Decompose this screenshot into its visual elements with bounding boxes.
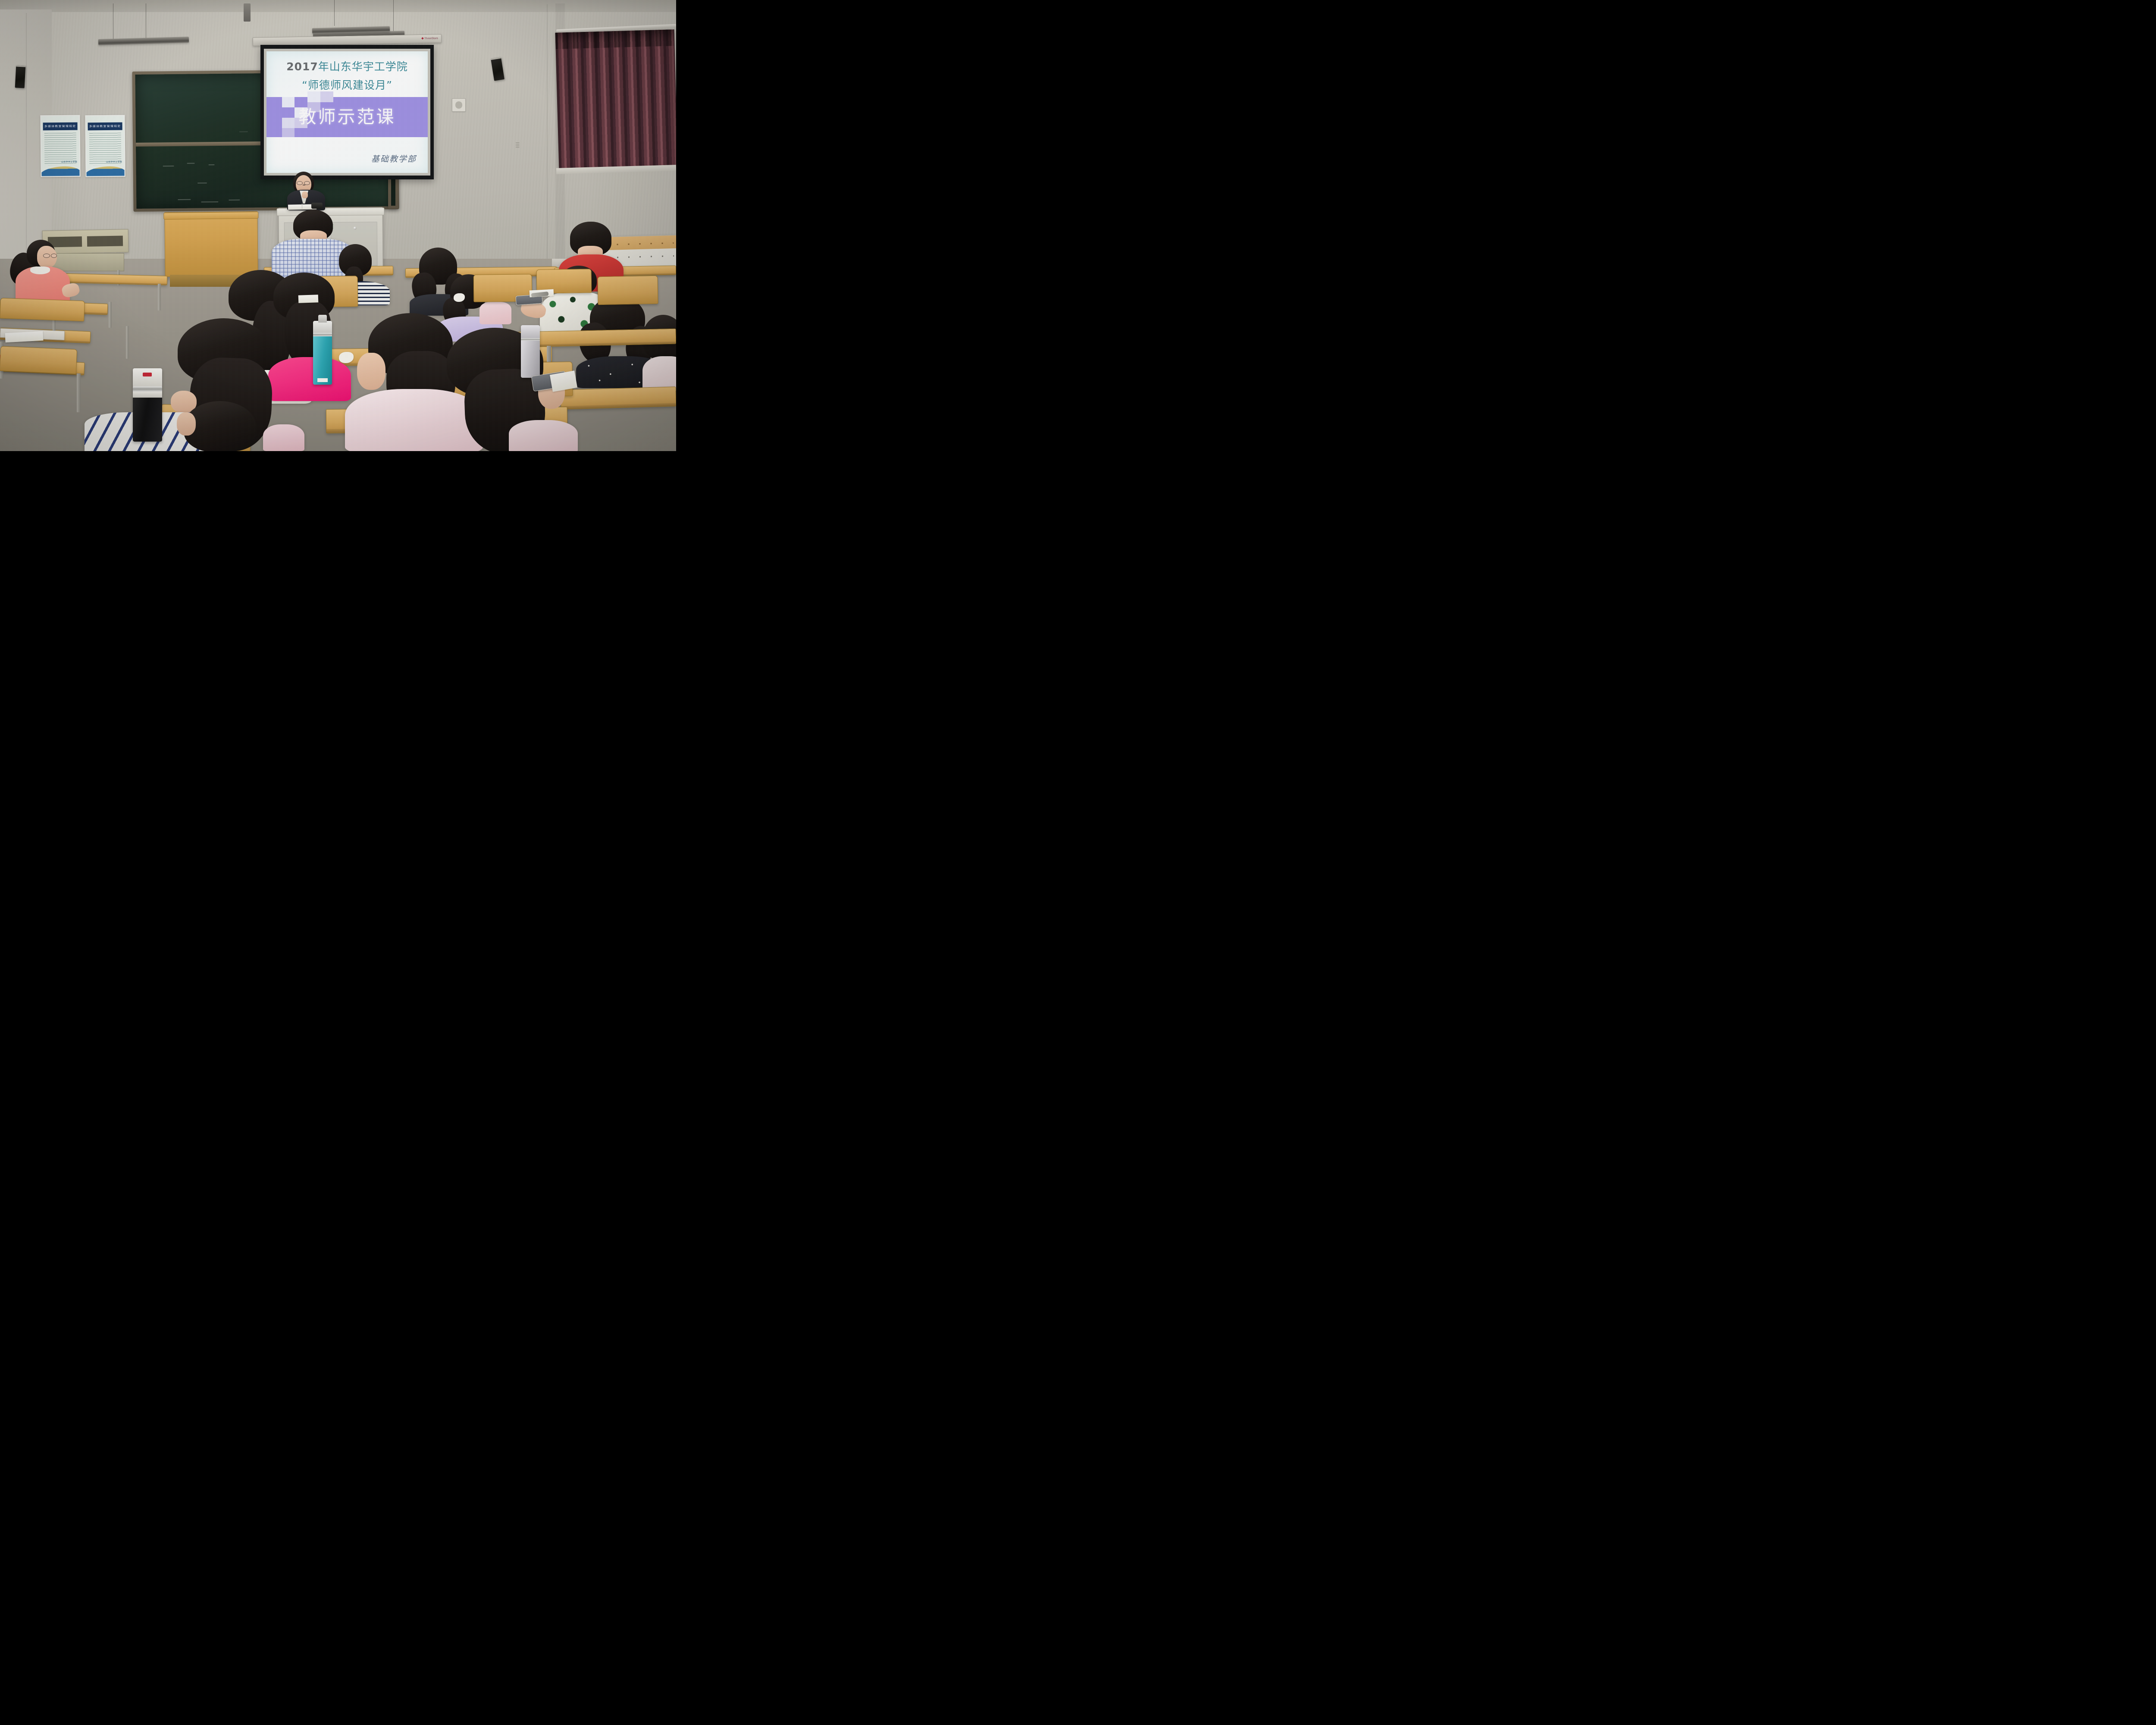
wall-seam-right: [547, 4, 548, 272]
poster-title: 多媒体教室管理规定: [89, 124, 121, 129]
student-torso: [509, 420, 578, 451]
ceiling-fan-mount: [244, 3, 251, 22]
curtain-pleats: [555, 29, 675, 49]
slide-year: 2017: [286, 60, 318, 73]
slide-headline-line2: “师德师风建设月”: [266, 77, 428, 92]
classroom-photo: ▌▌▌ 多媒体教室管理规定 山东华宇工学院 多媒体教室管理规定 山东华宇工学院: [0, 0, 676, 451]
lamp-wire: [113, 3, 113, 41]
poster-title: 多媒体教室管理规定: [44, 124, 76, 129]
desk-leg: [109, 302, 112, 328]
glasses-icon: [297, 181, 303, 185]
desk-object-dark: [311, 203, 323, 209]
student-pink-shoulder: [479, 302, 511, 324]
teacher: [285, 172, 327, 209]
presentation-slide: 2017年山东华宇工学院 “师德师风建设月” 教师示范课 基础教学部: [266, 51, 428, 173]
black-thermos[interactable]: [133, 368, 162, 442]
window-curtain[interactable]: [555, 29, 676, 170]
poster-wave-graphic: [85, 166, 125, 177]
thermos-lid-knob: [318, 315, 326, 323]
screen-brand-label: ThreeStars: [422, 37, 438, 40]
thermos-barcode: [317, 378, 328, 382]
desk-foreground-far-right: [560, 386, 676, 409]
chair-left-1: [0, 298, 85, 322]
wall-seam-left: [26, 13, 27, 272]
wall-poster-1: 多媒体教室管理规定 山东华宇工学院: [40, 115, 80, 177]
podium-lock-knob[interactable]: [354, 226, 357, 229]
mosaic-block: [295, 128, 307, 137]
thermos-cap: [133, 368, 162, 386]
lamp-wire: [393, 0, 394, 31]
student-navy-stripe: [85, 401, 257, 451]
desk-leg: [126, 326, 129, 359]
silver-thermos[interactable]: [521, 325, 540, 378]
brand-diamond-icon: [421, 38, 424, 40]
student-ear: [177, 412, 196, 436]
student-torso: [642, 356, 676, 391]
cabinet-top: [163, 212, 259, 220]
poster-header-bar: 多媒体教室管理规定: [43, 122, 78, 131]
slide-headline-line1: 2017年山东华宇工学院: [266, 58, 428, 74]
poster-footer: 山东华宇工学院: [106, 160, 122, 163]
thermos-red-dot: [143, 373, 151, 376]
desk-leg: [77, 373, 81, 412]
chair-mid-4: [597, 276, 658, 305]
thermos-cap: [521, 325, 540, 338]
lamp-wire: [334, 0, 335, 26]
student-torso: [263, 424, 304, 451]
glasses-icon: [43, 254, 50, 258]
wall-poster-2: 多媒体教室管理规定 山东华宇工学院: [85, 115, 125, 177]
student-left-pink-polo: [10, 240, 75, 304]
glasses-bridge: [303, 185, 305, 185]
slide-main-title: 教师示范课: [266, 102, 428, 128]
poster-footer: 山东华宇工学院: [61, 160, 77, 163]
projection-screen[interactable]: 2017年山东华宇工学院 “师德师风建设月” 教师示范课 基础教学部: [260, 45, 434, 179]
student-far-right: [642, 315, 676, 388]
thermos-cap: [313, 321, 332, 333]
paper-sheet: [5, 331, 43, 343]
teacher-neck: [302, 191, 308, 198]
teal-thermos[interactable]: [313, 321, 332, 385]
paper-sheet: [298, 295, 319, 303]
thermos-ring: [133, 386, 162, 392]
poster-header-bar: 多媒体教室管理规定: [88, 122, 122, 131]
poster-wave-graphic: [40, 166, 80, 177]
wall-outlet[interactable]: [452, 98, 466, 112]
thermos-collar: [133, 392, 162, 398]
mosaic-block: [320, 91, 333, 102]
wooden-cabinet[interactable]: [164, 211, 258, 277]
wall-speaker-left: [15, 65, 26, 88]
wall-marking: ▌▌▌: [511, 142, 519, 169]
student-cheek: [357, 353, 385, 390]
glasses-icon: [51, 254, 57, 258]
thermos-ring: [521, 338, 540, 341]
screen-mat: 2017年山东华宇工学院 “师德师风建设月” 教师示范课 基础教学部: [264, 49, 430, 176]
mosaic-block: [282, 128, 295, 137]
desk-leg: [158, 284, 161, 310]
slide-institution: 年山东华宇工学院: [318, 60, 408, 73]
slide-department: 基础教学部: [371, 153, 417, 164]
mosaic-block: [307, 91, 320, 102]
lamp-wire: [146, 3, 146, 41]
thermos-ring: [313, 333, 332, 336]
chair-left-2: [0, 346, 77, 374]
book-spine: [302, 204, 302, 209]
student-collar: [30, 267, 50, 274]
